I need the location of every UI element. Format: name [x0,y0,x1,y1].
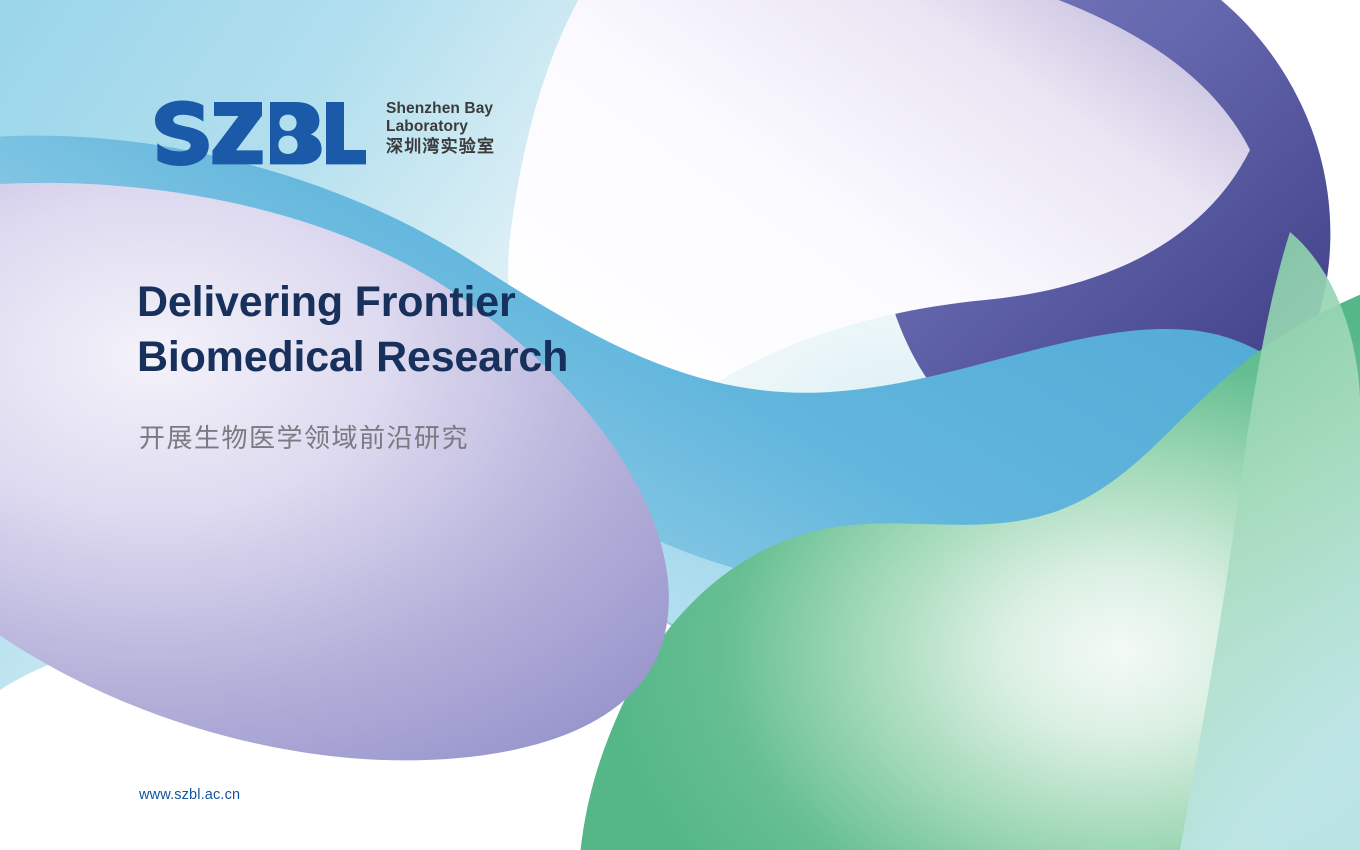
page-subtitle: 开展生物医学领域前沿研究 [139,418,469,455]
brand-name-line-2: Laboratory [386,118,495,136]
brand-wordmark: Shenzhen Bay Laboratory 深圳湾实验室 [386,96,495,157]
page-title: Delivering Frontier Biomedical Research [137,275,757,386]
brand-logo-lockup[interactable]: Shenzhen Bay Laboratory 深圳湾实验室 [150,96,495,168]
content-layer: Shenzhen Bay Laboratory 深圳湾实验室 Deliverin… [0,0,1360,850]
cover-slide: Shenzhen Bay Laboratory 深圳湾实验室 Deliverin… [0,0,1360,850]
brand-name-line-1: Shenzhen Bay [386,100,495,118]
website-link[interactable]: www.szbl.ac.cn [139,787,240,803]
brand-name-chinese: 深圳湾实验室 [386,137,495,157]
szbl-logo-icon [150,96,368,168]
